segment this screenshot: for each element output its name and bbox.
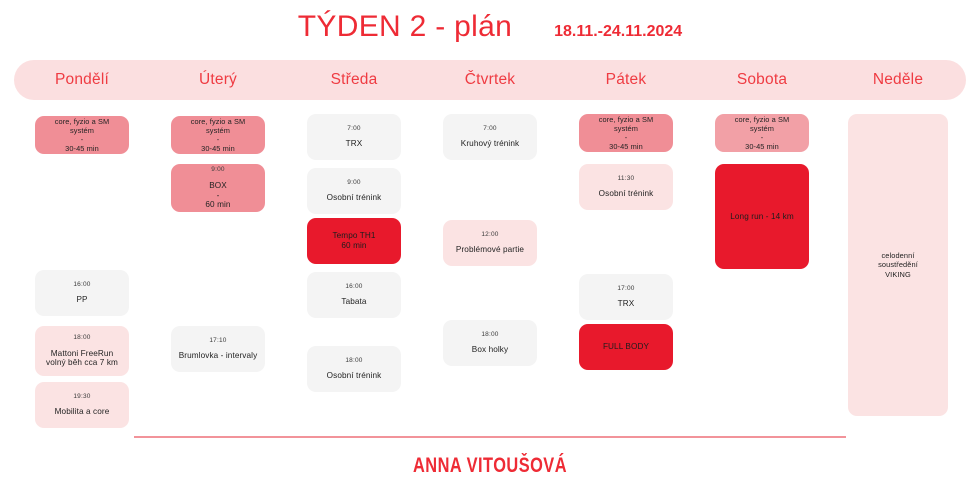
card-label: Osobní trénink [599,189,654,199]
card-label-line: - [205,191,230,201]
schedule-card[interactable]: 16:00Tabata [307,272,401,318]
schedule-grid: core, fyzio a SMsystém-30-45 min16:00PP1… [14,106,966,431]
card-label: PP [76,295,87,305]
card-time: 7:00 [483,125,496,133]
card-label-line: celodenní [878,251,918,260]
day-header-2: Úterý [150,71,286,89]
card-label-line: 30-45 min [55,144,110,153]
card-label: TRX [618,299,635,309]
day-column-7: celodennísoustředěníVIKING [830,106,966,431]
day-column-5: core, fyzio a SMsystém-30-45 min11:30Oso… [558,106,694,431]
card-label-line: core, fyzio a SM [599,115,654,124]
card-time: 11:30 [618,175,635,183]
card-label-line: systém [599,124,654,133]
schedule-card[interactable]: core, fyzio a SMsystém-30-45 min [579,114,673,152]
date-range: 18.11.-24.11.2024 [554,23,682,41]
card-label-line: VIKING [878,270,918,279]
card-label: core, fyzio a SMsystém-30-45 min [599,115,654,152]
schedule-card[interactable]: 17:10Brumlovka - intervaly [171,326,265,372]
schedule-card[interactable]: 12:00Problémové partie [443,220,537,266]
weekly-plan-page: TÝDEN 2 - plán 18.11.-24.11.2024 Pondělí… [0,0,980,495]
card-label-line: volný běh cca 7 km [46,358,118,368]
day-header-6: Sobota [694,71,830,89]
card-time: 18:00 [345,357,362,365]
schedule-card[interactable]: 16:00PP [35,270,129,316]
card-time: 18:00 [73,334,90,342]
card-label-line: - [735,133,790,142]
card-label-line: Osobní trénink [327,371,382,381]
card-time: 16:00 [73,281,90,289]
schedule-card[interactable]: 17:00TRX [579,274,673,320]
day-header-1: Pondělí [14,71,150,89]
card-label-line: 30-45 min [735,142,790,151]
card-label-line: Long run - 14 km [730,212,794,222]
day-column-3: 7:00TRX9:00Osobní tréninkTempo TH160 min… [286,106,422,431]
card-label-line: Problémové partie [456,245,524,255]
card-label: Box holky [472,345,508,355]
day-header-5: Pátek [558,71,694,89]
card-time: 18:00 [481,331,498,339]
card-label: Kruhový trénink [461,139,519,149]
card-label-line: 60 min [205,200,230,210]
schedule-card[interactable]: core, fyzio a SMsystém-30-45 min [171,116,265,154]
card-label-line: PP [76,295,87,305]
card-label-line: TRX [346,139,363,149]
schedule-card[interactable]: 7:00Kruhový trénink [443,114,537,160]
day-header-4: Čtvrtek [422,71,558,89]
day-column-6: core, fyzio a SMsystém-30-45 minLong run… [694,106,830,431]
card-time: 12:00 [481,231,498,239]
card-label-line: Kruhový trénink [461,139,519,149]
card-label-line: systém [735,124,790,133]
schedule-card[interactable]: 18:00Osobní trénink [307,346,401,392]
author-signature: ANNA VITOUŠOVÁ [108,454,872,478]
schedule-card[interactable]: 9:00BOX-60 min [171,164,265,212]
schedule-card[interactable]: FULL BODY [579,324,673,370]
card-label-line: core, fyzio a SM [735,115,790,124]
card-label-line: Mattoni FreeRun [46,349,118,359]
card-label-line: Osobní trénink [599,189,654,199]
card-label-line: systém [191,126,246,135]
card-label-line: core, fyzio a SM [191,117,246,126]
title-bar: TÝDEN 2 - plán 18.11.-24.11.2024 [0,0,980,44]
card-label-line: BOX [205,181,230,191]
card-label-line: - [55,135,110,144]
card-label-line: soustředění [878,260,918,269]
footer: ANNA VITOUŠOVÁ [0,436,980,478]
card-label: core, fyzio a SMsystém-30-45 min [735,115,790,152]
card-time: 19:30 [73,393,90,401]
schedule-card[interactable]: Long run - 14 km [715,164,809,269]
schedule-card[interactable]: 9:00Osobní trénink [307,168,401,214]
card-label-line: Tabata [341,297,366,307]
card-label: Brumlovka - intervaly [179,351,258,361]
schedule-card[interactable]: core, fyzio a SMsystém-30-45 min [35,116,129,154]
card-label: Mobilita a core [55,407,110,417]
schedule-card[interactable]: 18:00Box holky [443,320,537,366]
card-time: 9:00 [347,179,360,187]
card-time: 16:00 [345,283,362,291]
day-header-7: Neděle [830,71,966,89]
card-time: 7:00 [347,125,360,133]
footer-divider [134,436,846,438]
day-header-bar: PondělíÚterýStředaČtvrtekPátekSobotaNedě… [14,60,966,100]
card-label-line: - [599,133,654,142]
card-label: core, fyzio a SMsystém-30-45 min [191,117,246,154]
card-label-line: Brumlovka - intervaly [179,351,258,361]
schedule-card[interactable]: 19:30Mobilita a core [35,382,129,428]
card-label-line: FULL BODY [603,342,649,352]
card-label-line: - [191,135,246,144]
card-time: 17:00 [617,285,634,293]
card-label: Tabata [341,297,366,307]
card-time: 17:10 [209,337,226,345]
card-label-line: 60 min [332,241,375,251]
card-label: Osobní trénink [327,371,382,381]
card-label-line: core, fyzio a SM [55,117,110,126]
schedule-card[interactable]: core, fyzio a SMsystém-30-45 min [715,114,809,152]
schedule-card[interactable]: 7:00TRX [307,114,401,160]
card-label-line: TRX [618,299,635,309]
card-label-line: Mobilita a core [55,407,110,417]
card-label-line: 30-45 min [191,144,246,153]
card-label: Mattoni FreeRunvolný běh cca 7 km [46,349,118,368]
card-label-line: 30-45 min [599,142,654,151]
card-label: BOX-60 min [205,181,230,210]
card-label-line: systém [55,126,110,135]
page-title: TÝDEN 2 - plán [298,10,512,44]
card-label: Tempo TH160 min [332,231,375,250]
card-label: Osobní trénink [327,193,382,203]
card-label-line: Osobní trénink [327,193,382,203]
card-label: TRX [346,139,363,149]
card-label-line: Box holky [472,345,508,355]
card-label: celodennísoustředěníVIKING [878,251,918,279]
schedule-card[interactable]: celodennísoustředěníVIKING [848,114,948,416]
schedule-card[interactable]: 18:00Mattoni FreeRunvolný běh cca 7 km [35,326,129,376]
day-column-1: core, fyzio a SMsystém-30-45 min16:00PP1… [14,106,150,431]
schedule-card[interactable]: 11:30Osobní trénink [579,164,673,210]
day-header-3: Středa [286,71,422,89]
card-label: Problémové partie [456,245,524,255]
card-label-line: Tempo TH1 [332,231,375,241]
schedule-card[interactable]: Tempo TH160 min [307,218,401,264]
day-column-4: 7:00Kruhový trénink12:00Problémové parti… [422,106,558,431]
card-label: FULL BODY [603,342,649,352]
card-label: Long run - 14 km [730,212,794,222]
day-column-2: core, fyzio a SMsystém-30-45 min9:00BOX-… [150,106,286,431]
card-time: 9:00 [211,166,224,174]
card-label: core, fyzio a SMsystém-30-45 min [55,117,110,154]
